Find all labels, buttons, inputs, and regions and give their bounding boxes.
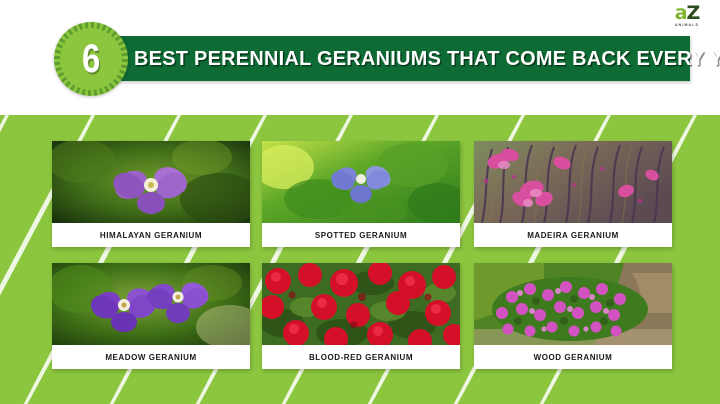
madeira-geranium-photo <box>474 141 672 223</box>
spotted-geranium-photo <box>262 141 460 223</box>
card-blood-red-geranium[interactable]: BLOOD-RED GERANIUM <box>262 263 460 369</box>
badge-inner-circle: 6 <box>60 28 122 90</box>
card-label: WOOD GERANIUM <box>474 345 672 369</box>
content-panel: HIMALAYAN GERANIUM <box>0 115 720 404</box>
number-badge: 6 <box>54 22 128 96</box>
card-label: MEADOW GERANIUM <box>52 345 250 369</box>
header: aZ ANIMALS BEST PERENNIAL GERANIUMS THAT… <box>0 0 720 115</box>
background-stripe <box>0 115 31 404</box>
az-animals-logo[interactable]: aZ ANIMALS <box>666 4 708 30</box>
card-wood-geranium[interactable]: WOOD GERANIUM <box>474 263 672 369</box>
card-himalayan-geranium[interactable]: HIMALAYAN GERANIUM <box>52 141 250 247</box>
logo-subtitle: ANIMALS <box>666 24 708 28</box>
page-title: BEST PERENNIAL GERANIUMS THAT COME BACK … <box>134 36 664 81</box>
logo-wordmark: aZ <box>666 4 708 23</box>
badge-number-text: 6 <box>82 39 100 79</box>
card-label: HIMALAYAN GERANIUM <box>52 223 250 247</box>
wood-geranium-photo <box>474 263 672 345</box>
card-label: SPOTTED GERANIUM <box>262 223 460 247</box>
card-spotted-geranium[interactable]: SPOTTED GERANIUM <box>262 141 460 247</box>
logo-letter-a: a <box>675 2 687 24</box>
card-madeira-geranium[interactable]: MADEIRA GERANIUM <box>474 141 672 247</box>
title-bar: BEST PERENNIAL GERANIUMS THAT COME BACK … <box>62 36 690 81</box>
infographic-poster: aZ ANIMALS BEST PERENNIAL GERANIUMS THAT… <box>0 0 720 404</box>
logo-letter-z: Z <box>687 2 700 24</box>
card-meadow-geranium[interactable]: MEADOW GERANIUM <box>52 263 250 369</box>
blood-red-geranium-photo <box>262 263 460 345</box>
himalayan-geranium-photo <box>52 141 250 223</box>
card-label: BLOOD-RED GERANIUM <box>262 345 460 369</box>
card-label: MADEIRA GERANIUM <box>474 223 672 247</box>
meadow-geranium-photo <box>52 263 250 345</box>
